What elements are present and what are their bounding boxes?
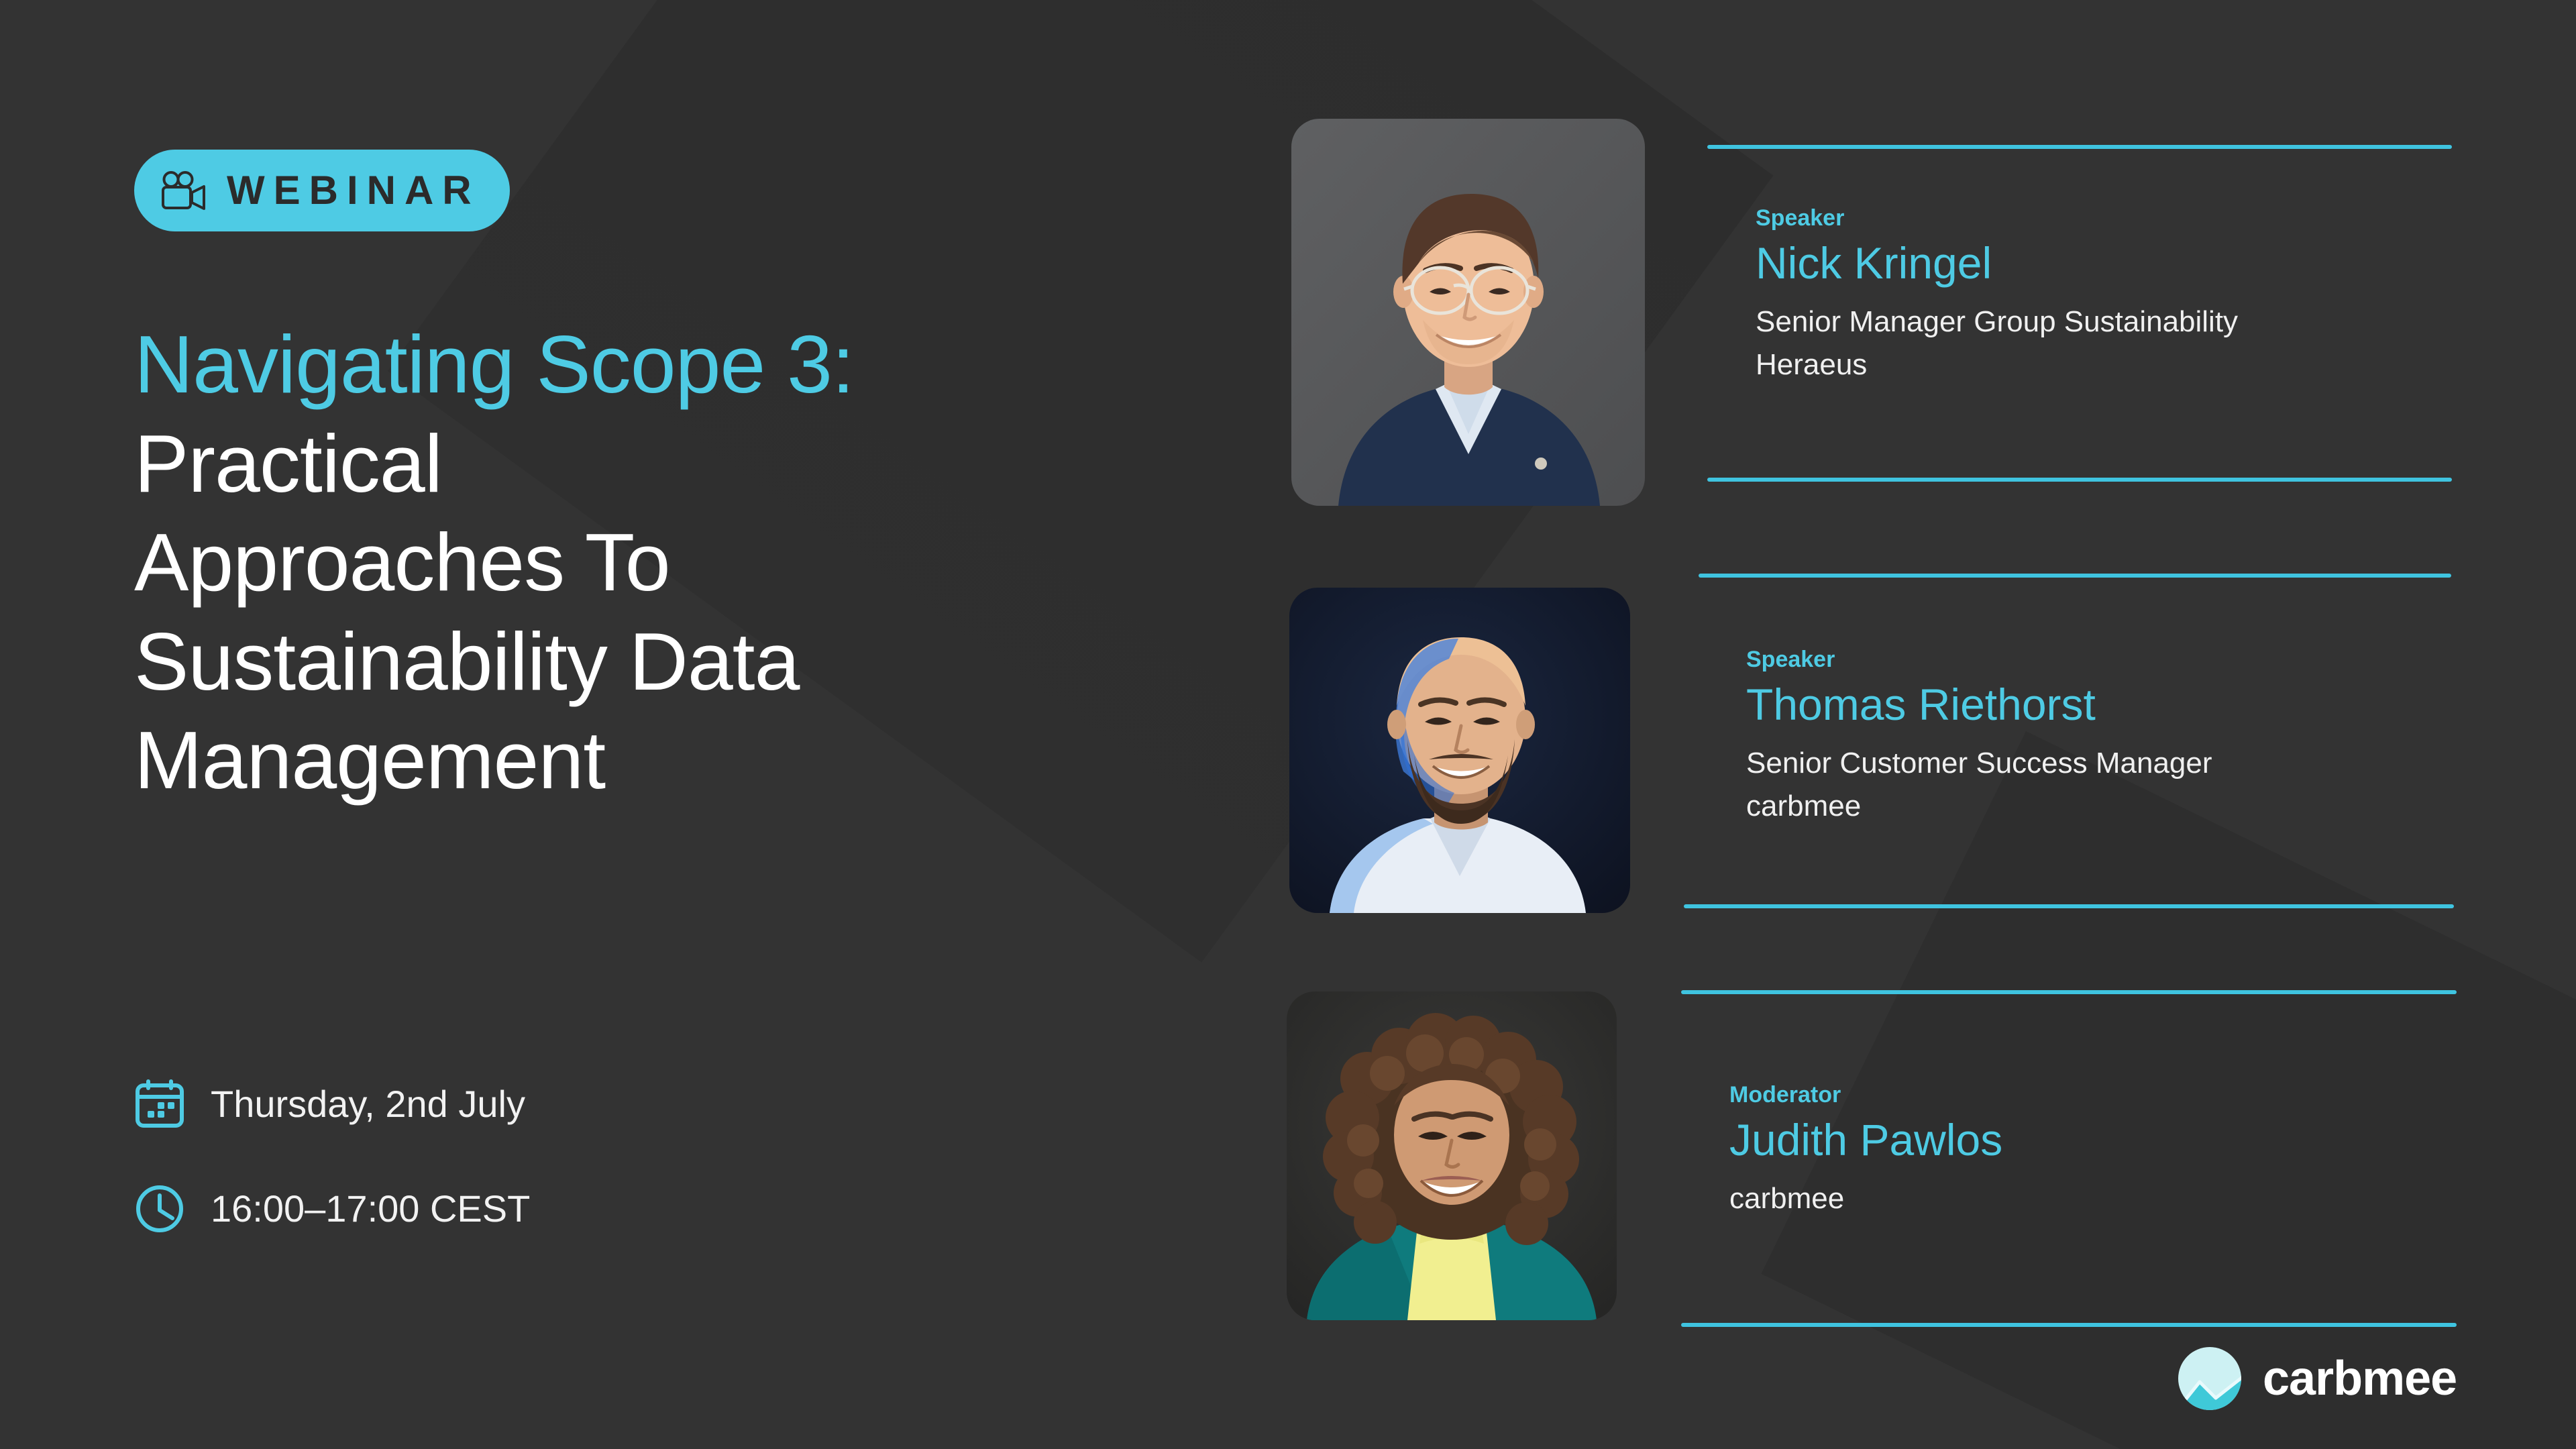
card-rule-top [1699, 574, 2451, 578]
role-label: Speaker [1746, 648, 2212, 671]
event-time-row: 16:00–17:00 CEST [134, 1177, 530, 1241]
carbmee-logo-icon [2177, 1346, 2243, 1411]
event-date-row: Thursday, 2nd July [134, 1072, 530, 1136]
headline-line-3: Approaches To [134, 513, 1221, 612]
carbmee-logo: carbmee [2177, 1346, 2457, 1411]
card-body: Speaker Nick Kringel Senior Manager Grou… [1756, 207, 2238, 386]
role-label: Speaker [1756, 207, 2238, 229]
headline-line-4: Sustainability Data [134, 612, 1221, 712]
card-body: Speaker Thomas Riethorst Senior Customer… [1746, 648, 2212, 828]
headline-line-5: Management [134, 711, 1221, 810]
calendar-icon [134, 1079, 185, 1130]
person-org: carbmee [1729, 1177, 2002, 1220]
headline-line-2: Practical [134, 415, 1221, 514]
webinar-promo-graphic: WEBINAR Navigating Scope 3: Practical Ap… [0, 0, 2576, 1449]
person-name: Judith Pawlos [1729, 1116, 2002, 1165]
role-label: Moderator [1729, 1083, 2002, 1106]
carbmee-wordmark: carbmee [2263, 1354, 2457, 1403]
card-rule-bottom [1681, 1323, 2457, 1327]
person-org: carbmee [1746, 785, 2212, 828]
person-name: Thomas Riethorst [1746, 680, 2212, 730]
card-rule-top [1707, 145, 2452, 149]
card-body: Moderator Judith Pawlos carbmee [1729, 1083, 2002, 1220]
portrait-judith-pawlos [1287, 991, 1617, 1320]
person-org: Heraeus [1756, 343, 2238, 386]
event-time-text: 16:00–17:00 CEST [211, 1190, 530, 1228]
card-rule-bottom [1684, 904, 2454, 908]
left-content-column: WEBINAR Navigating Scope 3: Practical Ap… [134, 0, 1275, 1449]
card-rule-top [1681, 990, 2457, 994]
clock-icon [134, 1183, 185, 1234]
headline-line-1: Navigating Scope 3: [134, 315, 1221, 415]
webinar-badge: WEBINAR [134, 150, 510, 231]
event-date-text: Thursday, 2nd July [211, 1085, 525, 1123]
person-name: Nick Kringel [1756, 239, 2238, 288]
page-title: Navigating Scope 3: Practical Approaches… [134, 315, 1221, 810]
card-rule-bottom [1707, 478, 2452, 482]
video-camera-icon [160, 170, 209, 211]
portrait-nick-kringel [1291, 119, 1645, 506]
webinar-badge-label: WEBINAR [227, 170, 480, 211]
portrait-thomas-riethorst [1289, 588, 1630, 913]
event-details: Thursday, 2nd July 16:00–17:00 CEST [134, 1072, 530, 1281]
person-title: Senior Manager Group Sustainability [1756, 301, 2238, 343]
person-title: Senior Customer Success Manager [1746, 742, 2212, 785]
